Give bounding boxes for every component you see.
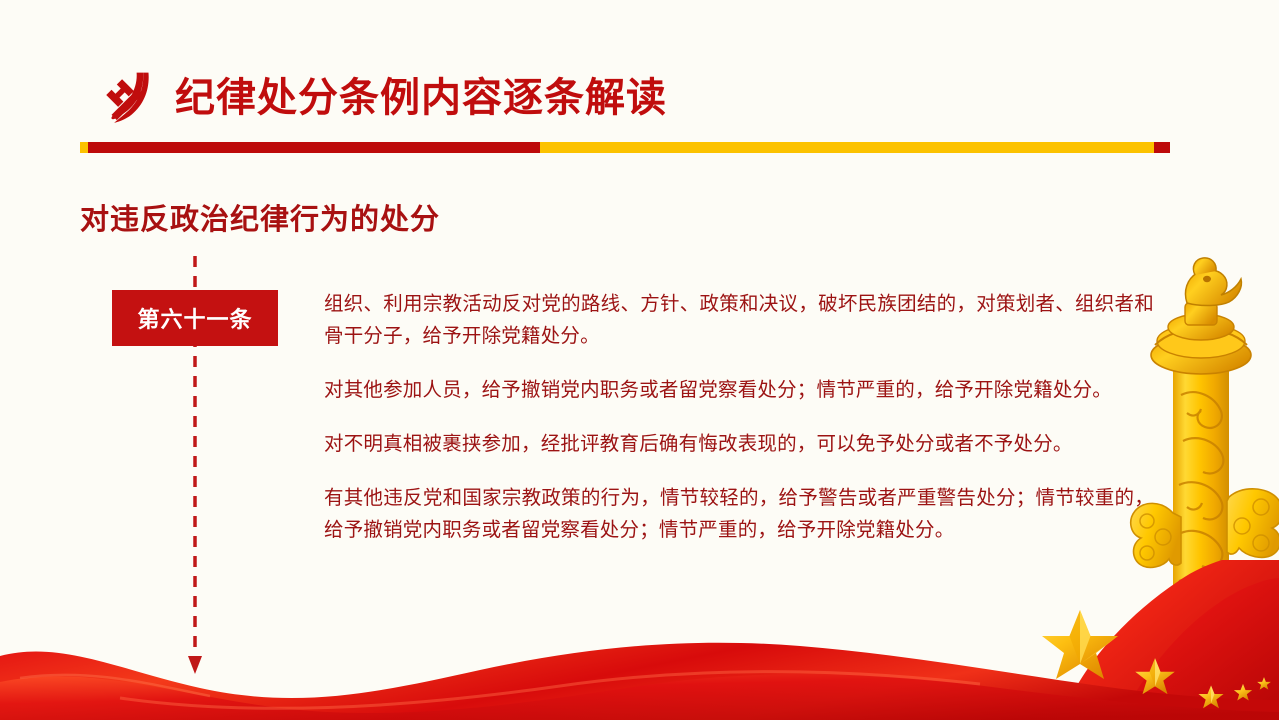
slide-header: 纪律处分条例内容逐条解读 bbox=[0, 0, 1279, 160]
article-body: 组织、利用宗教活动反对党的路线、方针、政策和决议，破坏民族团结的，对策划者、组织… bbox=[324, 288, 1154, 546]
slide-canvas: 纪律处分条例内容逐条解读 对违反政治纪律行为的处分 第六十一条 组织、利用宗教活… bbox=[0, 0, 1279, 720]
header-divider-bar bbox=[80, 142, 1170, 153]
page-title: 纪律处分条例内容逐条解读 bbox=[175, 70, 667, 126]
article-paragraph: 组织、利用宗教活动反对党的路线、方针、政策和决议，破坏民族团结的，对策划者、组织… bbox=[324, 288, 1154, 352]
golden-stars-decoration bbox=[1000, 590, 1279, 720]
article-number-badge[interactable]: 第六十一条 bbox=[112, 290, 278, 346]
divider-segment-right bbox=[1154, 142, 1170, 153]
divider-segment-left bbox=[88, 142, 540, 153]
article-paragraph: 有其他违反党和国家宗教政策的行为，情节较轻的，给予警告或者严重警告处分；情节较重… bbox=[324, 482, 1154, 546]
section-heading: 对违反政治纪律行为的处分 bbox=[80, 198, 440, 240]
article-paragraph: 对其他参加人员，给予撤销党内职务或者留党察看处分；情节严重的，给予开除党籍处分。 bbox=[324, 374, 1154, 406]
hammer-and-sickle-emblem bbox=[97, 66, 163, 132]
article-paragraph: 对不明真相被裹挟参加，经批评教育后确有悔改表现的，可以免予处分或者不予处分。 bbox=[324, 428, 1154, 460]
